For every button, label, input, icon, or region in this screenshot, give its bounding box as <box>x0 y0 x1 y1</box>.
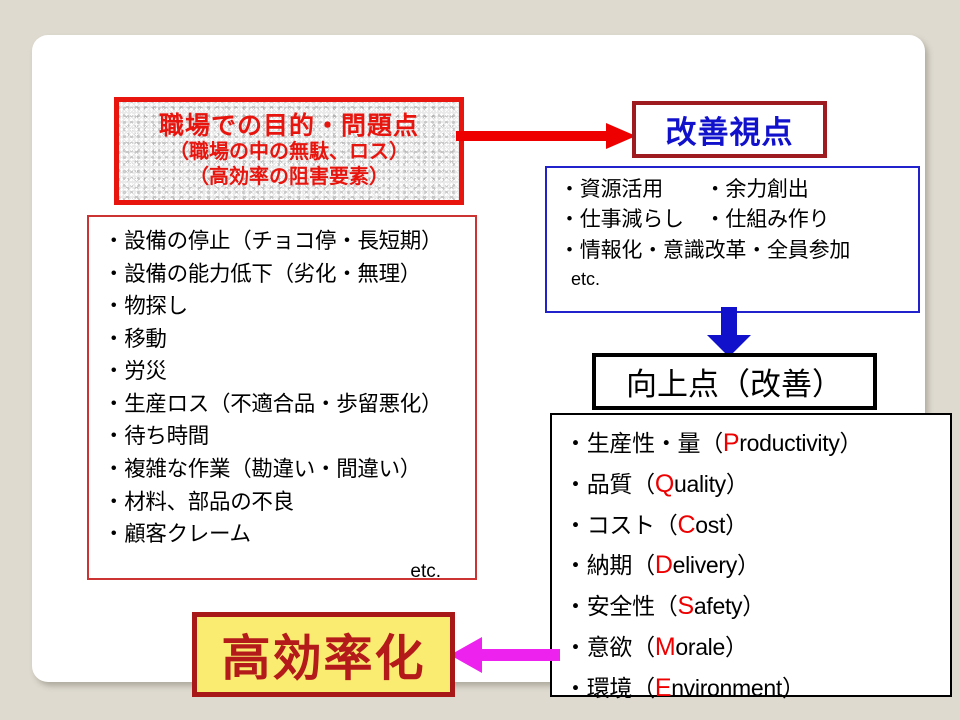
list-item: ・資源活用 ・余力創出 <box>559 175 918 205</box>
list-item: ・情報化・意識改革・全員参加 <box>559 236 918 266</box>
item-capital: C <box>678 511 696 539</box>
item-rest: ost） <box>695 512 747 538</box>
viewpoint-title-box: 改善視点 <box>632 101 827 158</box>
list-item: ・納期（Delivery） <box>564 545 950 586</box>
viewpoint-list-etc: etc. <box>559 266 918 292</box>
red-right-arrow-icon <box>456 123 636 149</box>
slide-canvas: 職場での目的・問題点 （職場の中の無駄、ロス） （高効率の阻害要素） ・設備の停… <box>32 35 925 682</box>
item-prefix: ・安全性（ <box>564 593 678 619</box>
purpose-subtitle-2: （高効率の阻害要素） <box>189 165 389 190</box>
item-rest: roductivity） <box>739 430 862 456</box>
gains-title-label: 向上点（改善） <box>626 359 843 404</box>
list-item: ・設備の停止（チョコ停・長短期） <box>103 225 465 258</box>
list-item: ・設備の能力低下（劣化・無理） <box>103 258 465 291</box>
gains-title-box: 向上点（改善） <box>592 353 877 410</box>
list-item: ・移動 <box>103 323 465 356</box>
list-item: ・仕事減らし ・仕組み作り <box>559 205 918 235</box>
gains-list-box: ・生産性・量（Productivity） ・品質（Quality） ・コスト（C… <box>550 413 952 697</box>
list-item: ・生産ロス（不適合品・歩留悪化） <box>103 388 465 421</box>
purpose-problem-box: 職場での目的・問題点 （職場の中の無駄、ロス） （高効率の阻害要素） <box>114 97 464 205</box>
item-capital: E <box>655 674 671 702</box>
item-capital: P <box>723 429 739 457</box>
blue-down-arrow-icon <box>707 307 751 357</box>
list-item: ・生産性・量（Productivity） <box>564 423 950 464</box>
item-prefix: ・品質（ <box>564 471 655 497</box>
result-label: 高効率化 <box>221 619 425 690</box>
list-item: ・材料、部品の不良 <box>103 486 465 519</box>
item-rest: orale） <box>675 634 747 660</box>
list-item: ・顧客クレーム <box>103 518 465 551</box>
loss-list-box: ・設備の停止（チョコ停・長短期） ・設備の能力低下（劣化・無理） ・物探し ・移… <box>87 215 477 580</box>
item-prefix: ・納期（ <box>564 552 655 578</box>
list-item: ・コスト（Cost） <box>564 505 950 546</box>
list-item: ・労災 <box>103 355 465 388</box>
viewpoint-title-label: 改善視点 <box>666 107 794 152</box>
purpose-title: 職場での目的・問題点 <box>159 112 419 140</box>
item-prefix: ・コスト（ <box>564 512 678 538</box>
item-rest: elivery） <box>673 552 760 578</box>
item-capital: S <box>678 592 694 620</box>
list-item: ・品質（Quality） <box>564 464 950 505</box>
item-rest: nvironment） <box>671 675 804 701</box>
viewpoint-list-box: ・資源活用 ・余力創出 ・仕事減らし ・仕組み作り ・情報化・意識改革・全員参加… <box>545 166 920 313</box>
item-rest: uality） <box>674 471 749 497</box>
magenta-left-arrow-icon <box>450 635 560 675</box>
result-high-efficiency-box: 高効率化 <box>192 612 455 697</box>
list-item: ・意欲（Morale） <box>564 627 950 668</box>
item-capital: D <box>655 551 673 579</box>
list-item: ・複雑な作業（勘違い・間違い） <box>103 453 465 486</box>
item-prefix: ・環境（ <box>564 675 655 701</box>
item-prefix: ・生産性・量（ <box>564 430 723 456</box>
purpose-subtitle-1: （職場の中の無駄、ロス） <box>169 140 409 165</box>
item-capital: M <box>655 633 676 661</box>
loss-list-etc: etc. <box>103 561 465 583</box>
list-item: ・安全性（Safety） <box>564 586 950 627</box>
list-item: ・物探し <box>103 290 465 323</box>
list-item: ・環境（Environment） <box>564 668 950 709</box>
list-item: ・待ち時間 <box>103 420 465 453</box>
item-rest: afety） <box>694 593 765 619</box>
item-capital: Q <box>655 470 674 498</box>
item-prefix: ・意欲（ <box>564 634 655 660</box>
